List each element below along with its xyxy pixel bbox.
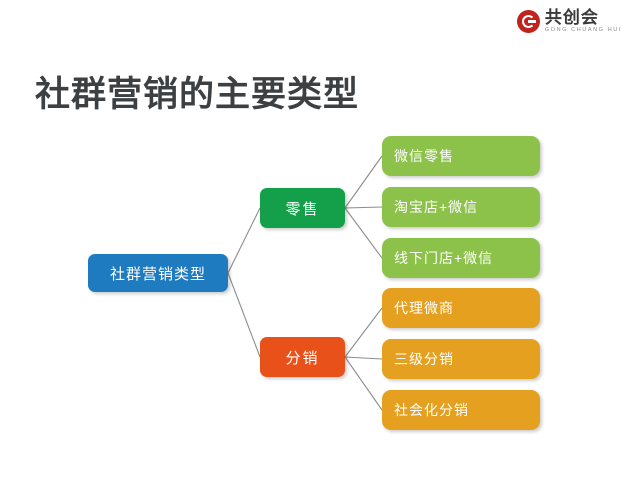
node-leaf-label: 微信零售 [394, 146, 454, 166]
edge-root-retail [228, 208, 260, 273]
node-leaf-agent-weishang[interactable]: 代理微商 [382, 288, 540, 328]
node-leaf-label: 淘宝店+微信 [394, 197, 478, 217]
edge-retail-leaf1 [345, 156, 382, 208]
tree-diagram: 社群营销类型 零售 分销 微信零售 淘宝店+微信 线下门店+微信 代理微商 三级… [0, 0, 640, 480]
node-leaf-label: 社会化分销 [394, 400, 469, 420]
edge-root-distribution [228, 273, 260, 357]
edge-distribution-leaf5 [345, 357, 382, 359]
node-leaf-taobao-wechat[interactable]: 淘宝店+微信 [382, 187, 540, 227]
node-leaf-offline-store-wechat[interactable]: 线下门店+微信 [382, 238, 540, 278]
node-leaf-wechat-retail[interactable]: 微信零售 [382, 136, 540, 176]
node-branch-distribution[interactable]: 分销 [260, 337, 345, 377]
node-branch-distribution-label: 分销 [285, 347, 319, 368]
node-leaf-social-distribution[interactable]: 社会化分销 [382, 390, 540, 430]
node-branch-retail-label: 零售 [285, 198, 319, 219]
edge-retail-leaf3 [345, 208, 382, 258]
node-leaf-label: 代理微商 [394, 298, 454, 318]
edge-retail-leaf2 [345, 207, 382, 208]
edge-distribution-leaf4 [345, 308, 382, 357]
connector-lines [0, 0, 640, 480]
edge-distribution-leaf6 [345, 357, 382, 410]
node-branch-retail[interactable]: 零售 [260, 188, 345, 228]
node-root[interactable]: 社群营销类型 [88, 254, 228, 292]
node-leaf-three-tier-distribution[interactable]: 三级分销 [382, 339, 540, 379]
node-leaf-label: 三级分销 [394, 349, 454, 369]
node-leaf-label: 线下门店+微信 [394, 248, 493, 268]
node-root-label: 社群营销类型 [110, 263, 206, 284]
